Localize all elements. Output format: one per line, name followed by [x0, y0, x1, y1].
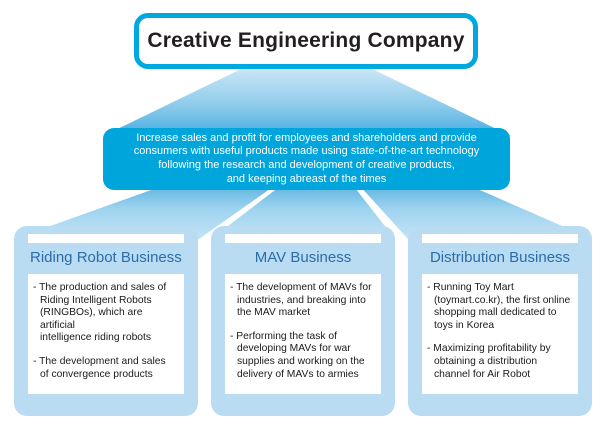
company-title-box: Creative Engineering Company	[134, 13, 478, 69]
business-panel-riding-robot: Riding Robot Business - The production a…	[14, 226, 198, 416]
list-item: - The development and sales of convergen…	[33, 356, 179, 381]
panel-body-distribution: - Running Toy Mart (toymart.co.kr), the …	[422, 274, 578, 394]
mission-line-4: and keeping abreast of the times	[227, 173, 387, 187]
panel-top-bar	[28, 234, 184, 243]
panel-top-bar	[422, 234, 578, 243]
panel-body-mav: - The development of MAVs for industries…	[225, 274, 381, 394]
page-title: Creative Engineering Company	[147, 29, 464, 53]
list-item: - Maximizing profitability by obtaining …	[427, 343, 573, 381]
mission-statement-box: Increase sales and profit for employees …	[103, 128, 510, 190]
panel-title-distribution: Distribution Business	[416, 245, 584, 271]
org-strategy-diagram: Creative Engineering Company Increase sa…	[0, 0, 613, 436]
mission-line-3: following the research and development o…	[158, 159, 455, 173]
panel-title-mav: MAV Business	[219, 245, 387, 271]
list-item: - The production and sales of Riding Int…	[33, 282, 179, 345]
panel-title-riding-robot: Riding Robot Business	[22, 245, 190, 271]
list-item: - The development of MAVs for industries…	[230, 282, 376, 320]
business-panel-mav: MAV Business - The development of MAVs f…	[211, 226, 395, 416]
mission-line-1: Increase sales and profit for employees …	[136, 132, 477, 146]
list-item: - Running Toy Mart (toymart.co.kr), the …	[427, 282, 573, 332]
mission-line-2: consumers with useful products made usin…	[134, 145, 479, 159]
panel-body-riding-robot: - The production and sales of Riding Int…	[28, 274, 184, 394]
connector-title-to-mission	[103, 68, 511, 136]
business-panel-distribution: Distribution Business - Running Toy Mart…	[408, 226, 592, 416]
panel-top-bar	[225, 234, 381, 243]
list-item: - Performing the task of developing MAVs…	[230, 331, 376, 381]
